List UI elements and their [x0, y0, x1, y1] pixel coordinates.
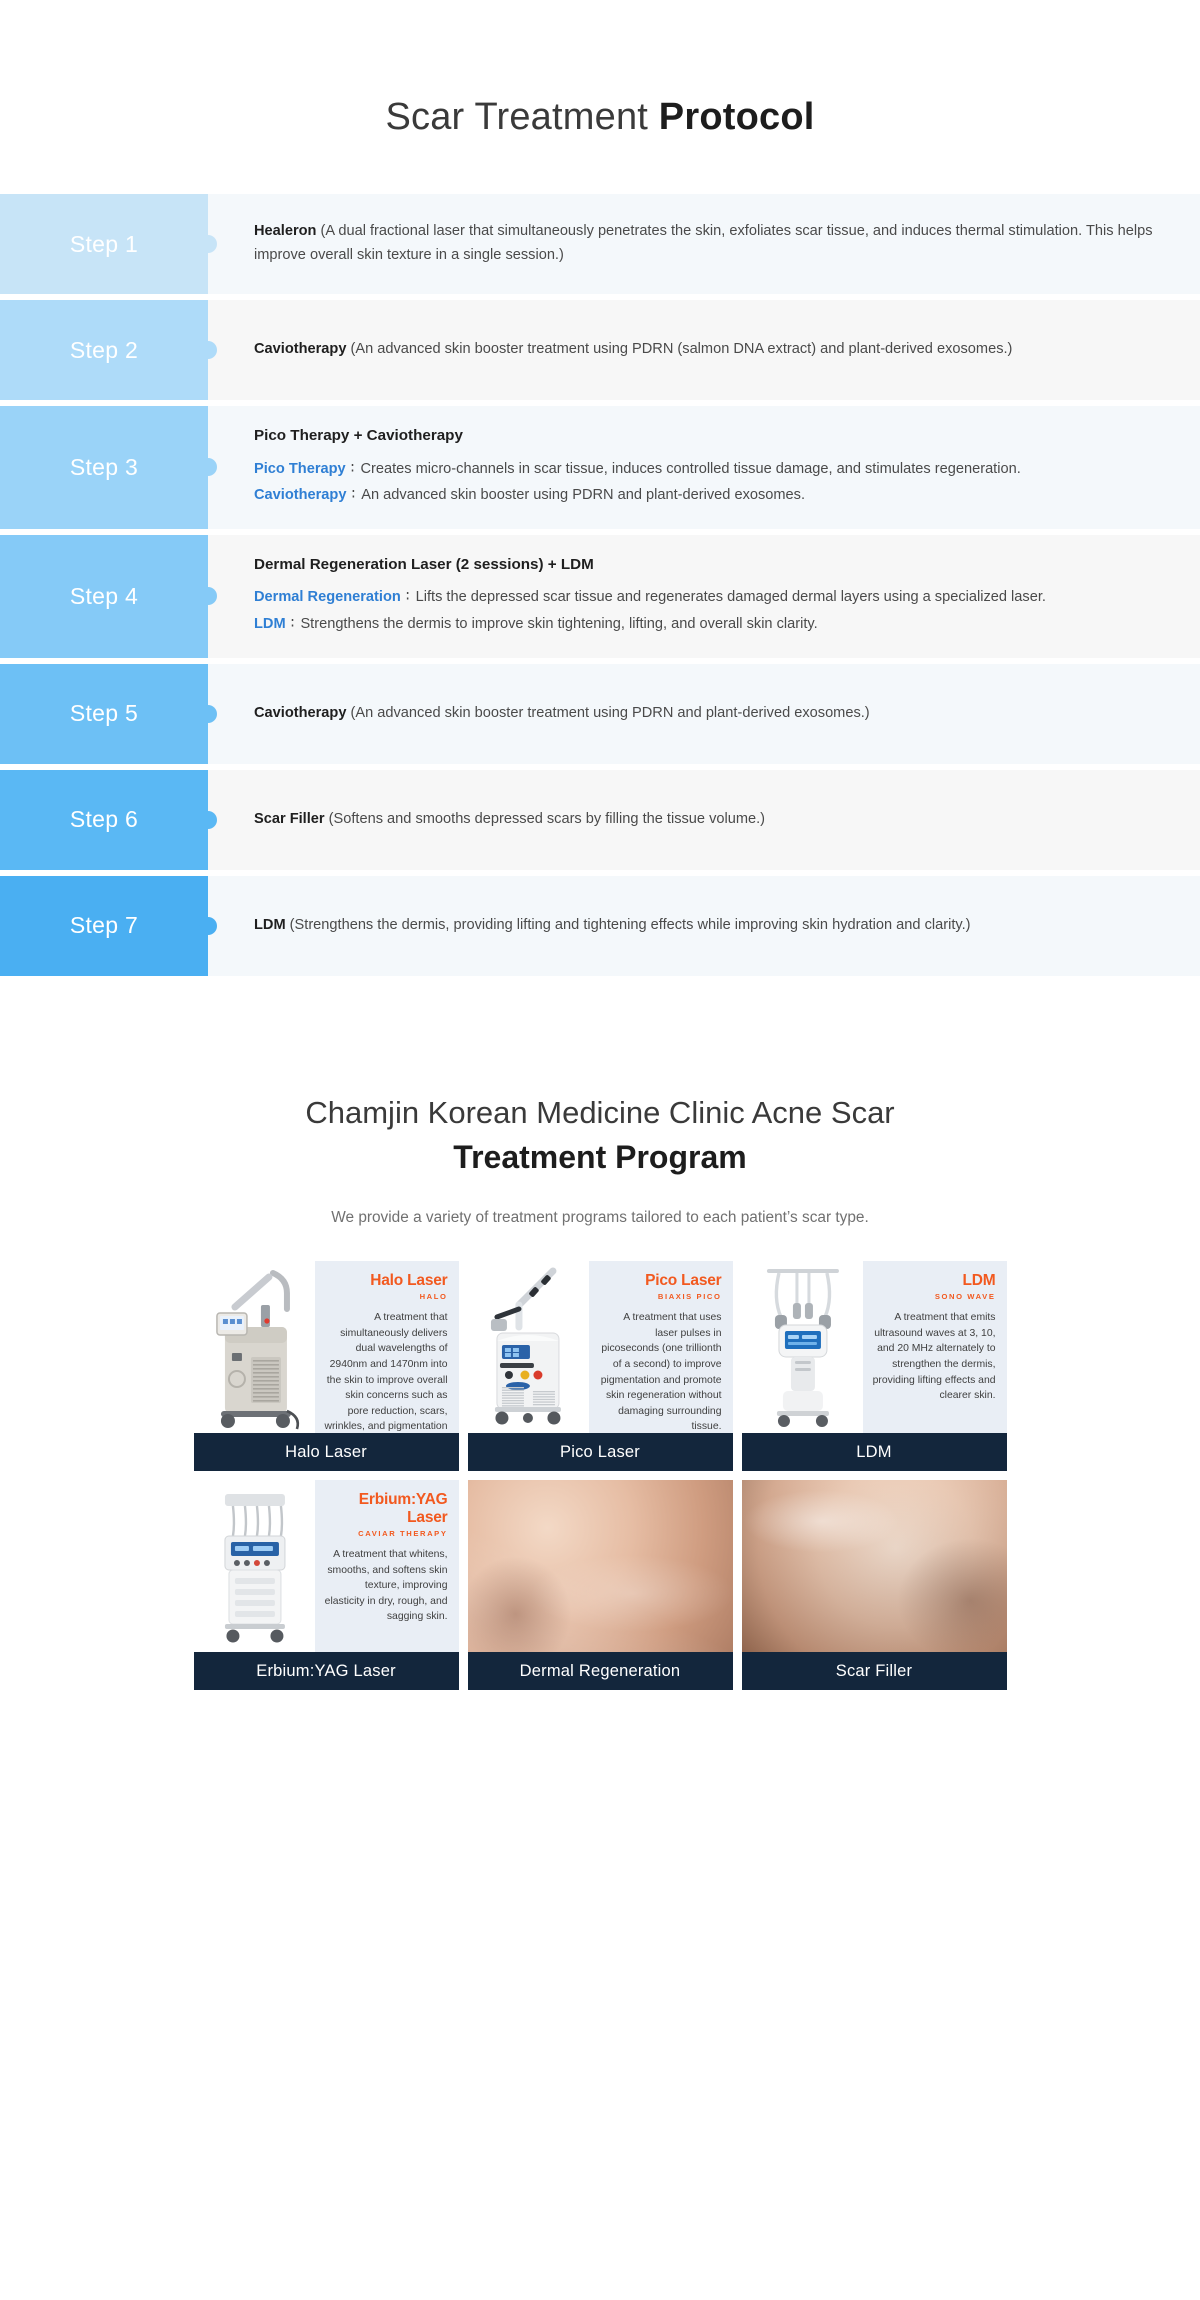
treatment-card-photo	[468, 1480, 733, 1652]
treatment-card[interactable]: LDMSONO WAVEA treatment that emits ultra…	[742, 1261, 1007, 1471]
treatment-card-brand: Erbium:YAG Laser	[324, 1491, 447, 1527]
step-body: Healeron (A dual fractional laser that s…	[208, 194, 1200, 294]
treatment-card-brand: Pico Laser	[598, 1272, 721, 1290]
treatment-card-brand-sub: CAVIAR THERAPY	[324, 1529, 447, 1538]
step-badge: Step 2	[0, 300, 208, 400]
step-description: Caviotherapy (An advanced skin booster t…	[254, 338, 1160, 362]
step-body: Scar Filler (Softens and smooths depress…	[208, 770, 1200, 870]
step-subline-colon: ∶	[351, 484, 355, 507]
treatment-card-photo	[194, 1261, 316, 1433]
treatment-card-brand-sub: HALO	[324, 1292, 447, 1301]
treatment-card-info: Erbium:YAG LaserCAVIAR THERAPYA treatmen…	[315, 1480, 458, 1652]
program-subtitle: We provide a variety of treatment progra…	[0, 1209, 1200, 1227]
treatment-card-description: A treatment that simultaneously delivers…	[324, 1310, 447, 1433]
treatment-card-photo	[742, 1480, 1007, 1652]
step-term: Caviotherapy	[254, 705, 351, 721]
treatment-card-description: A treatment that whitens, smooths, and s…	[324, 1547, 447, 1625]
step-badge-label: Step 4	[70, 583, 138, 610]
protocol-step-row: Step 1Healeron (A dual fractional laser …	[0, 194, 1200, 294]
protocol-page-title: Scar Treatment Protocol	[0, 0, 1200, 139]
step-subline-colon: ∶	[406, 586, 410, 609]
treatment-card-info: Pico LaserBIAXIS PICOA treatment that us…	[589, 1261, 732, 1433]
step-heading: Pico Therapy + Caviotherapy	[254, 424, 1160, 449]
treatment-card-label: Erbium:YAG Laser	[194, 1652, 459, 1690]
device-ldm-image	[742, 1261, 864, 1433]
step-detail: (An advanced skin booster treatment usin…	[351, 705, 870, 721]
step-subline: LDM∶Strengthens the dermis to improve sk…	[254, 613, 1160, 636]
treatment-card-media	[468, 1480, 733, 1652]
photo-filler-image	[742, 1480, 1007, 1652]
protocol-title-bold: Protocol	[659, 96, 815, 138]
step-detail: (Strengthens the dermis, providing lifti…	[290, 917, 971, 933]
device-pico-image	[468, 1261, 590, 1433]
protocol-step-row: Step 4Dermal Regeneration Laser (2 sessi…	[0, 535, 1200, 658]
step-detail: (Softens and smooths depressed scars by …	[329, 811, 765, 827]
protocol-step-row: Step 2Caviotherapy (An advanced skin boo…	[0, 300, 1200, 400]
protocol-step-row: Step 6Scar Filler (Softens and smooths d…	[0, 770, 1200, 870]
treatment-card-label: Halo Laser	[194, 1433, 459, 1471]
step-subline-term: Caviotherapy	[254, 484, 346, 507]
step-subline-desc: Lifts the depressed scar tissue and rege…	[416, 586, 1046, 609]
step-term: Caviotherapy	[254, 341, 351, 357]
step-badge: Step 6	[0, 770, 208, 870]
treatment-card-label: Pico Laser	[468, 1433, 733, 1471]
step-subline-term: LDM	[254, 613, 286, 636]
step-detail: (A dual fractional laser that simultaneo…	[254, 223, 1153, 263]
step-description: Healeron (A dual fractional laser that s…	[254, 220, 1160, 267]
treatment-card[interactable]: Erbium:YAG LaserCAVIAR THERAPYA treatmen…	[194, 1480, 459, 1690]
step-subline-desc: Creates micro-channels in scar tissue, i…	[360, 458, 1020, 481]
step-description: Scar Filler (Softens and smooths depress…	[254, 808, 1160, 832]
step-body: Dermal Regeneration Laser (2 sessions) +…	[208, 535, 1200, 658]
step-heading: Dermal Regeneration Laser (2 sessions) +…	[254, 553, 1160, 578]
treatment-card[interactable]: Dermal Regeneration	[468, 1480, 733, 1690]
step-description: Caviotherapy (An advanced skin booster t…	[254, 702, 1160, 726]
program-title-line1: Chamjin Korean Medicine Clinic Acne Scar	[305, 1095, 894, 1130]
treatment-card-photo	[194, 1480, 316, 1652]
step-subline-colon: ∶	[291, 613, 295, 636]
treatment-photo	[468, 1480, 733, 1652]
treatment-card-media: Pico LaserBIAXIS PICOA treatment that us…	[468, 1261, 733, 1433]
step-badge: Step 7	[0, 876, 208, 976]
treatment-card-info: Halo LaserHALOA treatment that simultane…	[315, 1261, 458, 1433]
step-badge-label: Step 2	[70, 337, 138, 364]
step-badge-label: Step 1	[70, 231, 138, 258]
step-badge: Step 5	[0, 664, 208, 764]
step-subline: Caviotherapy∶An advanced skin booster us…	[254, 484, 1160, 507]
step-body: Caviotherapy (An advanced skin booster t…	[208, 300, 1200, 400]
step-subline: Dermal Regeneration∶Lifts the depressed …	[254, 586, 1160, 609]
treatment-card-brand-sub: BIAXIS PICO	[598, 1292, 721, 1301]
treatment-card[interactable]: Pico LaserBIAXIS PICOA treatment that us…	[468, 1261, 733, 1471]
treatment-card-description: A treatment that emits ultrasound waves …	[872, 1310, 995, 1404]
treatment-card-media	[742, 1480, 1007, 1652]
protocol-title-light: Scar Treatment	[385, 96, 658, 138]
treatment-card-description: A treatment that uses laser pulses in pi…	[598, 1310, 721, 1433]
page-root: Scar Treatment Protocol Step 1Healeron (…	[0, 0, 1200, 2300]
step-body: Caviotherapy (An advanced skin booster t…	[208, 664, 1200, 764]
treatment-card-label: LDM	[742, 1433, 1007, 1471]
program-title-line2: Treatment Program	[0, 1136, 1200, 1180]
protocol-step-row: Step 3Pico Therapy + CaviotherapyPico Th…	[0, 406, 1200, 529]
step-description: LDM (Strengthens the dermis, providing l…	[254, 914, 1160, 938]
step-subline-term: Pico Therapy	[254, 458, 346, 481]
step-subline-desc: An advanced skin booster using PDRN and …	[361, 484, 805, 507]
treatment-card-media: LDMSONO WAVEA treatment that emits ultra…	[742, 1261, 1007, 1433]
step-term: Healeron	[254, 223, 321, 239]
step-subline-colon: ∶	[351, 458, 355, 481]
photo-dermal-image	[468, 1480, 733, 1652]
treatment-card-info: LDMSONO WAVEA treatment that emits ultra…	[863, 1261, 1006, 1433]
protocol-step-row: Step 7LDM (Strengthens the dermis, provi…	[0, 876, 1200, 976]
treatment-card-label: Scar Filler	[742, 1652, 1007, 1690]
treatment-card-media: Halo LaserHALOA treatment that simultane…	[194, 1261, 459, 1433]
treatment-card[interactable]: Scar Filler	[742, 1480, 1007, 1690]
step-term: Scar Filler	[254, 811, 329, 827]
treatment-card-grid: Halo LaserHALOA treatment that simultane…	[0, 1261, 1200, 1690]
step-body: LDM (Strengthens the dermis, providing l…	[208, 876, 1200, 976]
treatment-card[interactable]: Halo LaserHALOA treatment that simultane…	[194, 1261, 459, 1471]
step-badge: Step 3	[0, 406, 208, 529]
device-halo-image	[194, 1261, 316, 1433]
treatment-card-brand: LDM	[872, 1272, 995, 1290]
treatment-card-photo	[468, 1261, 590, 1433]
protocol-step-list: Step 1Healeron (A dual fractional laser …	[0, 194, 1200, 976]
protocol-step-row: Step 5Caviotherapy (An advanced skin boo…	[0, 664, 1200, 764]
step-subline: Pico Therapy∶Creates micro-channels in s…	[254, 458, 1160, 481]
treatment-card-photo	[742, 1261, 864, 1433]
treatment-card-media: Erbium:YAG LaserCAVIAR THERAPYA treatmen…	[194, 1480, 459, 1652]
step-body: Pico Therapy + CaviotherapyPico Therapy∶…	[208, 406, 1200, 529]
treatment-card-brand-sub: SONO WAVE	[872, 1292, 995, 1301]
treatment-card-brand: Halo Laser	[324, 1272, 447, 1290]
treatment-card-label: Dermal Regeneration	[468, 1652, 733, 1690]
treatment-photo	[742, 1480, 1007, 1652]
step-badge-label: Step 5	[70, 700, 138, 727]
step-badge-label: Step 7	[70, 912, 138, 939]
step-badge-label: Step 3	[70, 454, 138, 481]
program-page-title: Chamjin Korean Medicine Clinic Acne Scar…	[0, 1092, 1200, 1180]
step-detail: (An advanced skin booster treatment usin…	[351, 341, 1013, 357]
step-badge: Step 1	[0, 194, 208, 294]
step-subline-desc: Strengthens the dermis to improve skin t…	[300, 613, 817, 636]
step-badge-label: Step 6	[70, 806, 138, 833]
step-badge: Step 4	[0, 535, 208, 658]
step-subline-term: Dermal Regeneration	[254, 586, 401, 609]
step-term: LDM	[254, 917, 290, 933]
program-section: Chamjin Korean Medicine Clinic Acne Scar…	[0, 1092, 1200, 1691]
device-erbium-image	[194, 1480, 316, 1652]
